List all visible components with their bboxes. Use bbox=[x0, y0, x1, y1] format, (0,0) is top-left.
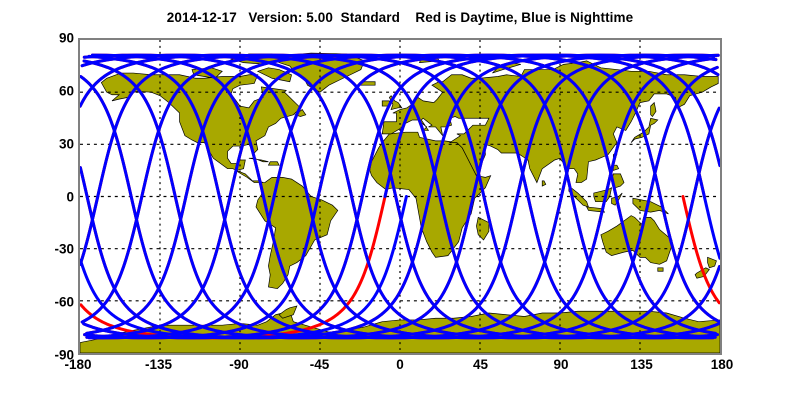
x-tick-label: -180 bbox=[38, 357, 118, 372]
x-tick-45: 45 bbox=[441, 357, 521, 372]
landmass-hispaniola bbox=[268, 162, 279, 165]
y-tick-m60: -60 bbox=[14, 302, 74, 317]
y-tick-60: 60 bbox=[14, 91, 74, 106]
landmass-tasmania bbox=[658, 268, 663, 271]
x-tick-180: 180 bbox=[682, 357, 762, 372]
x-tick-135: 135 bbox=[602, 357, 682, 372]
x-tick-label: 0 bbox=[360, 357, 440, 372]
map-svg bbox=[80, 40, 720, 353]
x-tick-label: 135 bbox=[602, 357, 682, 372]
y-tick-90: 90 bbox=[14, 38, 74, 53]
x-tick-m135: -135 bbox=[119, 357, 199, 372]
y-tick-label: -30 bbox=[14, 242, 74, 257]
x-tick-m180: -180 bbox=[38, 357, 118, 372]
x-tick-label: -135 bbox=[119, 357, 199, 372]
x-tick-label: 45 bbox=[441, 357, 521, 372]
y-tick-label: 0 bbox=[14, 189, 74, 204]
x-tick-label: -45 bbox=[280, 357, 360, 372]
y-tick-m30: -30 bbox=[14, 249, 74, 264]
x-tick-label: -90 bbox=[199, 357, 279, 372]
y-tick-label: 90 bbox=[14, 31, 74, 46]
x-tick-0: 0 bbox=[360, 357, 440, 372]
y-tick-label: 60 bbox=[14, 83, 74, 98]
x-tick-label: 180 bbox=[682, 357, 762, 372]
x-tick-m90: -90 bbox=[199, 357, 279, 372]
y-tick-label: -60 bbox=[14, 295, 74, 310]
y-tick-30: 30 bbox=[14, 144, 74, 159]
plot-area[interactable] bbox=[78, 38, 722, 355]
chart-title: 2014-12-17 Version: 5.00 Standard Red is… bbox=[0, 10, 800, 25]
x-tick-m45: -45 bbox=[280, 357, 360, 372]
x-tick-90: 90 bbox=[521, 357, 601, 372]
y-tick-0: 0 bbox=[14, 197, 74, 212]
ground-track-figure: 2014-12-17 Version: 5.00 Standard Red is… bbox=[0, 0, 800, 400]
map-canvas bbox=[80, 40, 720, 353]
x-tick-label: 90 bbox=[521, 357, 601, 372]
y-tick-label: 30 bbox=[14, 136, 74, 151]
